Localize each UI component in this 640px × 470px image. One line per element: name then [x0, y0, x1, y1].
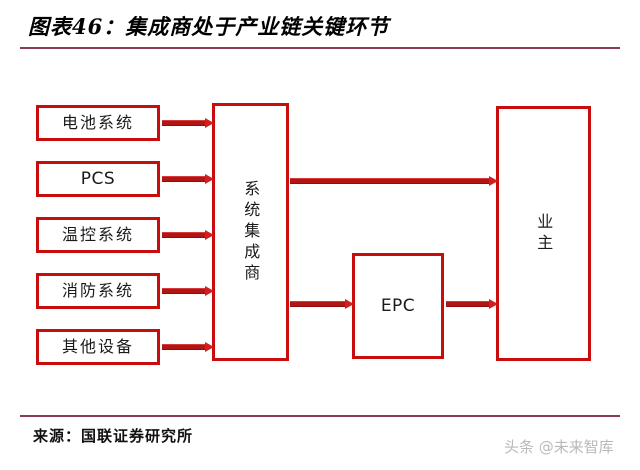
arrow-head-icon [205, 174, 214, 184]
arrow-shaft [162, 288, 205, 294]
node-thermal[interactable]: 温控系统 [36, 217, 160, 253]
arrow-head-icon [489, 176, 498, 186]
arrow-head-icon [205, 230, 214, 240]
arrow-shaft [162, 344, 205, 350]
node-battery-label: 电池系统 [62, 114, 134, 132]
arrow-head-icon [205, 286, 214, 296]
arrow-head-icon [205, 118, 214, 128]
node-battery[interactable]: 电池系统 [36, 105, 160, 141]
node-system-integrator-label: 系统集成商 [242, 180, 260, 285]
arrow-integrator-to-owner [290, 176, 498, 186]
arrow-shaft [162, 176, 205, 182]
arrow-shaft [290, 301, 345, 307]
arrow-battery-to-integrator [162, 118, 214, 128]
arrow-shaft [162, 120, 205, 126]
node-owner[interactable]: 业主 [496, 106, 591, 361]
node-pcs-label: PCS [81, 170, 115, 189]
node-system-integrator[interactable]: 系统集成商 [212, 103, 289, 361]
watermark: 头条 @未来智库 [504, 436, 614, 457]
arrow-thermal-to-integrator [162, 230, 214, 240]
arrow-head-icon [345, 299, 354, 309]
arrow-fire-to-integrator [162, 286, 214, 296]
arrow-shaft [446, 301, 489, 307]
source-note: 来源：国联证券研究所 [33, 425, 193, 446]
node-epc-label: EPC [381, 297, 415, 316]
arrow-other-to-integrator [162, 342, 214, 352]
arrow-epc-to-owner [446, 299, 498, 309]
figure-root: 图表46：集成商处于产业链关键环节 电池系统 PCS 温控系统 消防系统 其他设… [0, 0, 640, 470]
arrow-pcs-to-integrator [162, 174, 214, 184]
node-thermal-label: 温控系统 [62, 226, 134, 244]
node-fire-label: 消防系统 [62, 282, 134, 300]
node-other[interactable]: 其他设备 [36, 329, 160, 365]
node-epc[interactable]: EPC [352, 253, 444, 359]
arrow-shaft [162, 232, 205, 238]
arrow-head-icon [489, 299, 498, 309]
node-pcs[interactable]: PCS [36, 161, 160, 197]
source-divider [20, 415, 620, 417]
arrow-head-icon [205, 342, 214, 352]
arrow-integrator-to-epc [290, 299, 354, 309]
flow-diagram: 电池系统 PCS 温控系统 消防系统 其他设备 系统集成商 EPC 业主 [0, 0, 640, 470]
node-other-label: 其他设备 [62, 338, 134, 356]
node-owner-label: 业主 [535, 213, 553, 255]
node-fire[interactable]: 消防系统 [36, 273, 160, 309]
arrow-shaft [290, 178, 489, 184]
